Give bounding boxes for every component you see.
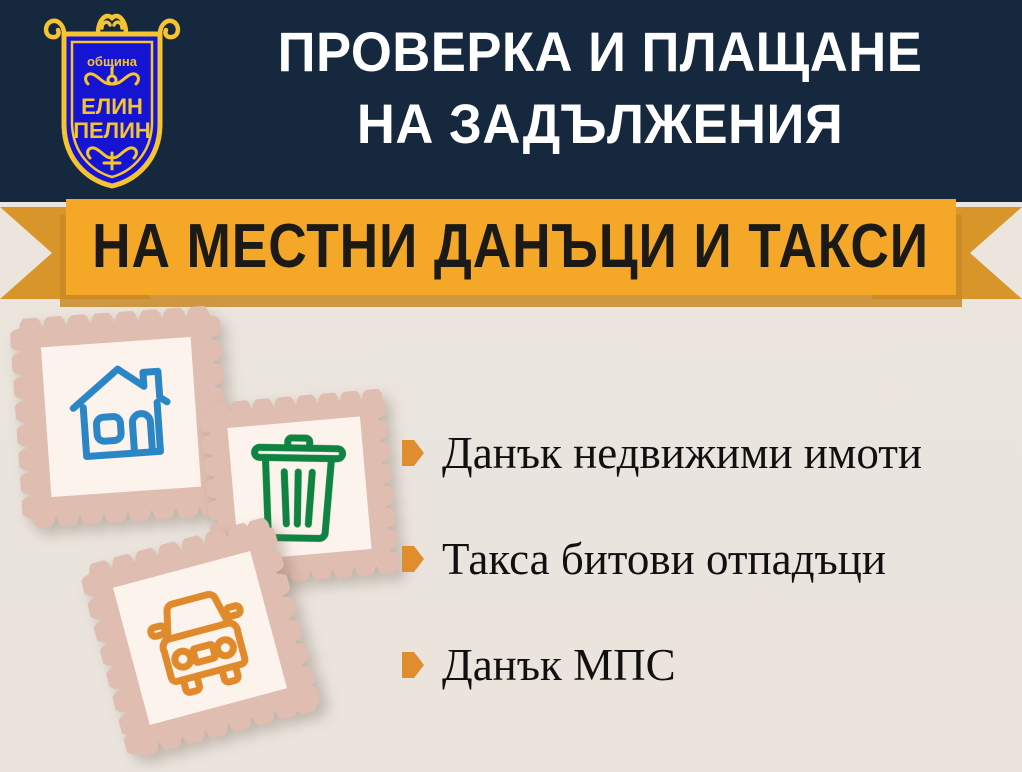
list-item-label: Данък недвижими имоти <box>442 428 922 478</box>
crest-word-line1: ЕЛИН <box>81 94 143 119</box>
list-item: Данък МПС <box>402 637 1017 693</box>
coat-of-arms: община ЕЛИН ПЕЛИН <box>42 8 182 192</box>
page-title-line2: НА ЗАДЪЛЖЕНИЯ <box>211 88 989 160</box>
list-item: Такса битови отпадъци <box>402 531 1017 587</box>
list-item-label: Такса битови отпадъци <box>442 534 886 584</box>
bullet-arrow-icon <box>402 546 424 572</box>
ribbon-banner: НА МЕСТНИ ДАНЪЦИ И ТАКСИ <box>0 199 1022 309</box>
page-title-line1: ПРОВЕРКА И ПЛАЩАНЕ <box>278 20 923 83</box>
bullet-arrow-icon <box>402 440 424 466</box>
list-item: Данък недвижими имоти <box>402 425 1017 481</box>
poster: община ЕЛИН ПЕЛИН <box>0 0 1022 772</box>
header-bar: община ЕЛИН ПЕЛИН <box>0 0 1022 202</box>
crest-word-line2: ПЕЛИН <box>73 118 151 143</box>
page-title: ПРОВЕРКА И ПЛАЩАНЕ НА ЗАДЪЛЖЕНИЯ <box>211 16 989 160</box>
ribbon-label: НА МЕСТНИ ДАНЪЦИ И ТАКСИ <box>93 216 930 278</box>
bullet-arrow-icon <box>402 652 424 678</box>
list-item-label: Данък МПС <box>442 640 676 690</box>
ribbon-main: НА МЕСТНИ ДАНЪЦИ И ТАКСИ <box>66 199 956 295</box>
tax-type-list: Данък недвижими имоти Такса битови отпад… <box>402 425 1017 743</box>
